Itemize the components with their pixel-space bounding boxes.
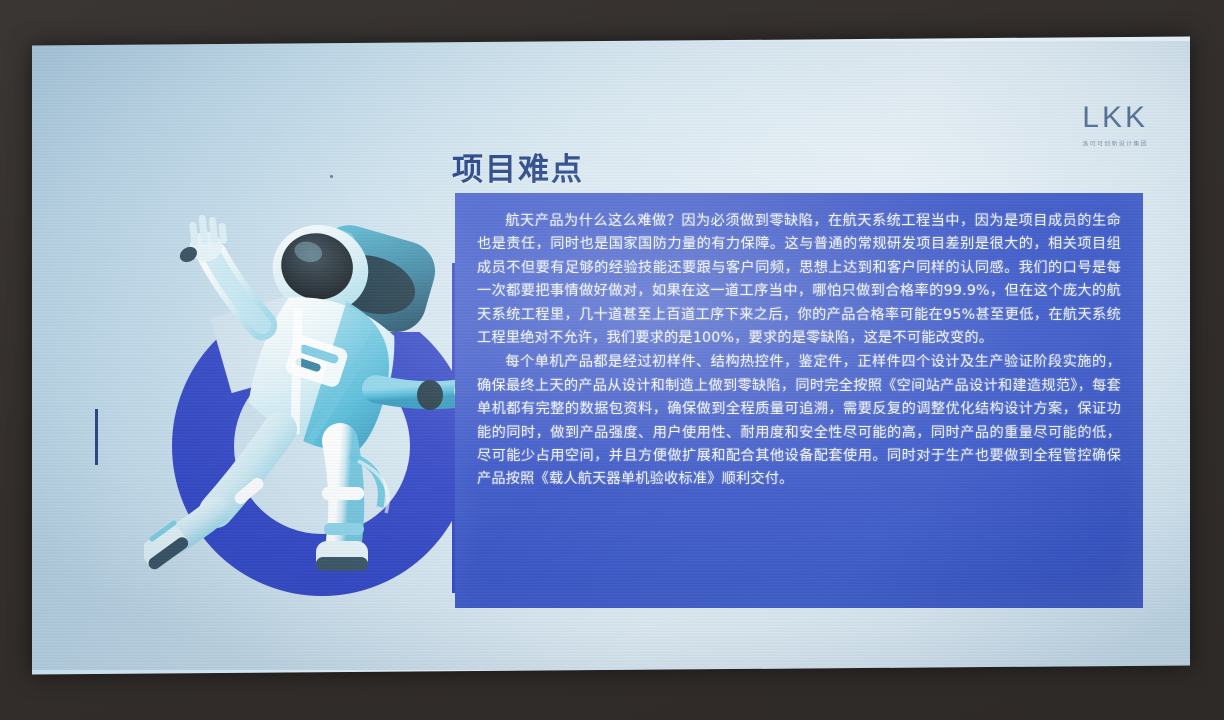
small-dot-decoration (330, 175, 333, 178)
page-title: 项目难点 (452, 144, 584, 189)
presentation-slide: 项目难点 航天产品为什么这么难做？因为必须做到零缺陷，在航天系统工程当中，因为是… (32, 36, 1190, 674)
content-panel: 航天产品为什么这么难做？因为必须做到零缺陷，在航天系统工程当中，因为是项目成员的… (455, 193, 1143, 608)
left-accent-line (95, 409, 98, 465)
brand-logo-subtitle: 洛可可创新设计集团 (1082, 139, 1148, 147)
astronaut-illustration (144, 193, 504, 593)
content-paragraph-2: 每个单机产品都是经过初样件、结构热控件，鉴定件，正样件四个设计及生产验证阶段实施… (477, 351, 1121, 491)
content-paragraph-1: 航天产品为什么这么难做？因为必须做到零缺陷，在航天系统工程当中，因为是项目成员的… (477, 210, 1121, 350)
projector-room-backdrop: 项目难点 航天产品为什么这么难做？因为必须做到零缺陷，在航天系统工程当中，因为是… (0, 0, 1224, 720)
brand-logo: LKK 洛可可创新设计集团 (1082, 103, 1148, 148)
brand-logo-mark: LKK (1082, 103, 1148, 133)
